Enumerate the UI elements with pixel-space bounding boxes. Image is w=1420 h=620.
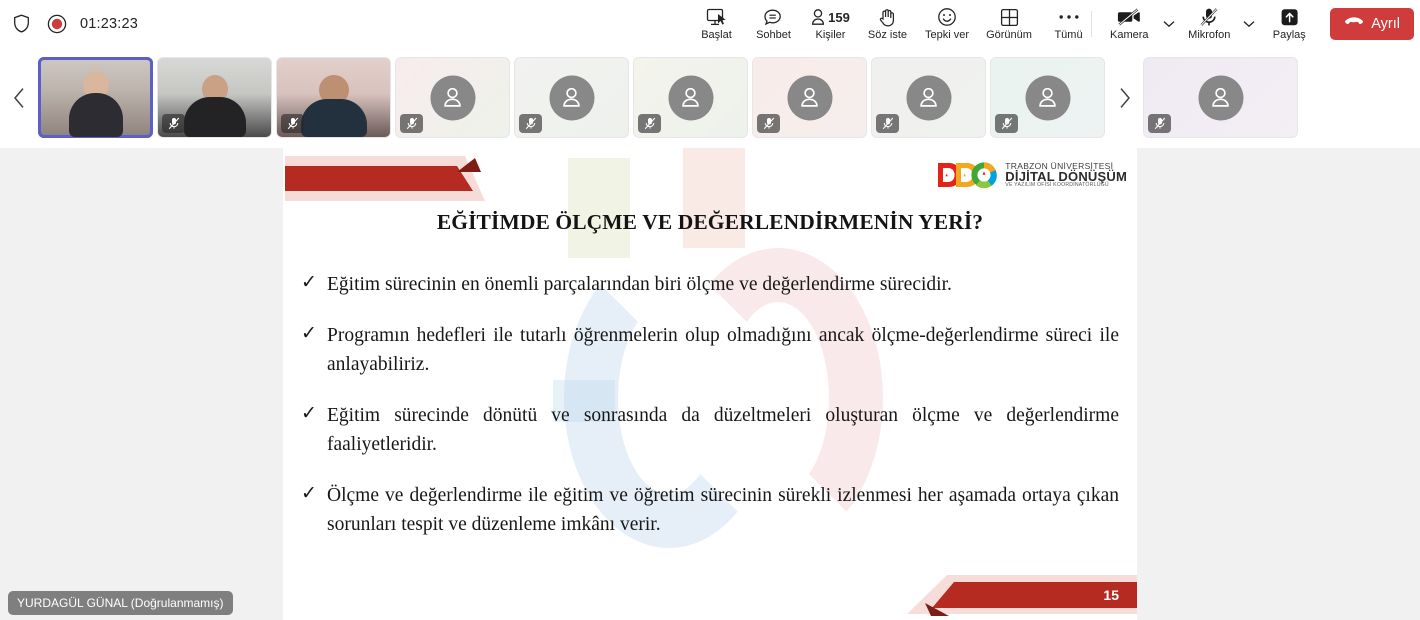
shared-slide[interactable]: TRABZON ÜNİVERSİTESİ DİJİTAL DÖNÜŞÜM VE …: [283, 148, 1137, 620]
meeting-window: 01:23:23 Başlat: [0, 0, 1420, 620]
check-mark-icon: ✓: [301, 481, 317, 506]
toolbar-label-raise-hand: Söz iste: [868, 29, 907, 41]
meeting-timer: 01:23:23: [80, 16, 138, 32]
emoji-smiley-icon: [937, 6, 957, 28]
check-mark-icon: ✓: [301, 321, 317, 346]
participant-tile[interactable]: [514, 57, 629, 138]
microphone-off-icon: [757, 114, 780, 133]
participant-video-body: [184, 97, 246, 137]
raise-hand-icon: [878, 6, 897, 28]
toolbar-button-share[interactable]: Paylaş: [1258, 0, 1320, 47]
toolbar-label-view: Görünüm: [986, 29, 1032, 41]
slide-bullet-item: ✓ Programın hedefleri ile tutarlı öğrenm…: [301, 321, 1119, 379]
slide-bullet-item: ✓ Ölçme ve değerlendirme ile eğitim ve ö…: [301, 481, 1119, 539]
participant-video-body: [301, 99, 367, 137]
record-icon[interactable]: [44, 11, 70, 37]
toolbar-button-camera[interactable]: Kamera: [1098, 0, 1160, 47]
chat-bubble-icon: [763, 6, 784, 28]
person-avatar-icon: [668, 75, 713, 120]
microphone-off-icon: [995, 114, 1018, 133]
people-icon: 159: [811, 6, 850, 28]
participant-tile[interactable]: [871, 57, 986, 138]
microphone-off-icon: [400, 114, 423, 133]
microphone-off-icon: [1199, 6, 1219, 28]
check-mark-icon: ✓: [301, 401, 317, 426]
filmstrip-tiles: [38, 57, 1105, 138]
microphone-chevron-down-icon[interactable]: [1240, 0, 1258, 47]
slide-bullet-text: Eğitim sürecinde dönütü ve sonrasında da…: [327, 401, 1119, 459]
toolbar-button-microphone[interactable]: Mikrofon: [1178, 0, 1240, 47]
toolbar-label-start-sharing: Başlat: [701, 29, 732, 41]
filmstrip-prev-button[interactable]: [0, 47, 38, 148]
toolbar-button-view[interactable]: Görünüm: [978, 0, 1040, 47]
microphone-off-icon: [876, 114, 899, 133]
person-avatar-icon: [549, 75, 594, 120]
slide-title: EĞİTİMDE ÖLÇME VE DEĞERLENDİRMENİN YERİ?: [283, 210, 1137, 235]
watermark-square: [568, 158, 630, 258]
participant-tile[interactable]: [1143, 57, 1298, 138]
camera-off-icon: [1117, 6, 1141, 28]
logo-line-office: VE YAZILIM OFİSİ KOORDİNATÖRLÜĞÜ: [1005, 183, 1127, 188]
shield-icon: [8, 11, 34, 37]
slide-logo: TRABZON ÜNİVERSİTESİ DİJİTAL DÖNÜŞÜM VE …: [936, 160, 1127, 190]
person-avatar-icon: [430, 75, 475, 120]
person-avatar-icon: [906, 75, 951, 120]
hangup-phone-icon: [1344, 16, 1364, 32]
toolbar-right-group: Kamera Mikrofon: [1089, 0, 1414, 47]
participant-tile[interactable]: [157, 57, 272, 138]
toolbar-button-people[interactable]: 159 Kişiler: [802, 0, 859, 47]
microphone-off-icon: [281, 114, 304, 133]
person-avatar-icon: [1025, 75, 1070, 120]
leave-meeting-button[interactable]: Ayrıl: [1330, 8, 1414, 40]
top-toolbar: 01:23:23 Başlat: [0, 0, 1420, 47]
filmstrip-overflow-tiles: [1143, 57, 1298, 138]
slide-bullet-item: ✓ Eğitim sürecinin en önemli parçalarınd…: [301, 270, 1119, 299]
microphone-off-icon: [1148, 114, 1171, 133]
participant-tile[interactable]: [990, 57, 1105, 138]
slide-bullet-text: Programın hedefleri ile tutarlı öğrenmel…: [327, 321, 1119, 379]
slide-logo-text: TRABZON ÜNİVERSİTESİ DİJİTAL DÖNÜŞÜM VE …: [1005, 162, 1127, 189]
toolbar-label-microphone: Mikrofon: [1188, 29, 1230, 41]
toolbar-label-more: Tümü: [1054, 29, 1082, 41]
filmstrip-next-button[interactable]: [1105, 47, 1143, 148]
ddo-logo-icon: [936, 160, 998, 190]
person-avatar-icon: [787, 75, 832, 120]
microphone-off-icon: [519, 114, 542, 133]
toolbar-divider: [1091, 11, 1092, 37]
camera-chevron-down-icon[interactable]: [1160, 0, 1178, 47]
toolbar-label-people: Kişiler: [816, 29, 846, 41]
toolbar-center-group: Başlat Sohbet 15: [688, 0, 1097, 47]
toolbar-button-chat[interactable]: Sohbet: [745, 0, 802, 47]
toolbar-label-share: Paylaş: [1273, 29, 1306, 41]
grid-view-icon: [1000, 6, 1019, 28]
participant-tile[interactable]: [752, 57, 867, 138]
active-speaker-label: YURDAGÜL GÜNAL (Doğrulanmamış): [8, 591, 233, 615]
toolbar-button-react[interactable]: Tepki ver: [916, 0, 978, 47]
slide-bullet-text: Ölçme ve değerlendirme ile eğitim ve öğr…: [327, 481, 1119, 539]
slide-bullet-list: ✓ Eğitim sürecinin en önemli parçalarınd…: [301, 270, 1119, 561]
toolbar-label-react: Tepki ver: [925, 29, 969, 41]
share-screen-icon: [706, 6, 727, 28]
participant-tile[interactable]: [38, 57, 153, 138]
participant-tile[interactable]: [633, 57, 748, 138]
slide-bullet-item: ✓ Eğitim sürecinde dönütü ve sonrasında …: [301, 401, 1119, 459]
participant-filmstrip: [0, 47, 1420, 148]
share-arrow-up-icon: [1279, 6, 1300, 28]
toolbar-label-camera: Kamera: [1110, 29, 1149, 41]
microphone-off-icon: [638, 114, 661, 133]
people-count: 159: [828, 10, 850, 25]
slide-page-ribbon: 15: [907, 575, 1137, 620]
microphone-off-icon: [162, 114, 185, 133]
toolbar-button-raise-hand[interactable]: Söz iste: [859, 0, 916, 47]
meeting-stage: TRABZON ÜNİVERSİTESİ DİJİTAL DÖNÜŞÜM VE …: [0, 148, 1420, 620]
slide-bullet-text: Eğitim sürecinin en önemli parçalarından…: [327, 270, 1119, 299]
slide-page-number: 15: [1103, 587, 1119, 603]
person-avatar-icon: [1198, 75, 1243, 120]
leave-button-label: Ayrıl: [1371, 16, 1400, 32]
toolbar-button-start-sharing[interactable]: Başlat: [688, 0, 745, 47]
check-mark-icon: ✓: [301, 270, 317, 295]
toolbar-label-chat: Sohbet: [756, 29, 791, 41]
more-ellipsis-icon: [1058, 6, 1080, 28]
participant-video-body: [69, 93, 123, 137]
participant-tile[interactable]: [395, 57, 510, 138]
ribbon-bar: [285, 166, 473, 191]
toolbar-left-group: 01:23:23: [0, 11, 300, 37]
participant-tile[interactable]: [276, 57, 391, 138]
